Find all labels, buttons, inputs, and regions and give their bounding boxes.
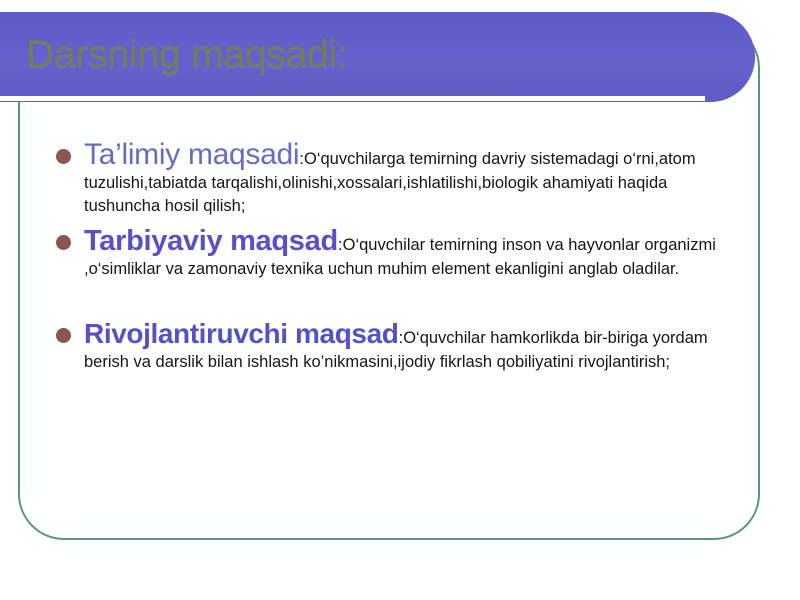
bullet-2-heading: Tarbiyaviy maqsad xyxy=(84,225,338,257)
bullet-item-1: Ta’limiy maqsadi:O‘quvchilarga temirning… xyxy=(48,138,738,218)
bullet-item-3: Rivojlantiruvchi maqsad:O‘quvchilar hamk… xyxy=(48,317,738,374)
disc-bullet-icon xyxy=(56,328,71,343)
bullet-3-heading: Rivojlantiruvchi maqsad xyxy=(84,318,398,349)
disc-bullet-icon xyxy=(56,149,71,164)
bullet-1-text: Ta’limiy maqsadi:O‘quvchilarga temirning… xyxy=(84,138,738,218)
bullet-3-text: Rivojlantiruvchi maqsad:O‘quvchilar hamk… xyxy=(84,317,738,374)
bullet-item-2: Tarbiyaviy maqsad:O‘quvchilar temirning … xyxy=(48,224,738,281)
page-title: Darsning maqsadi: xyxy=(26,32,348,78)
slide-title-banner: Darsning maqsadi: xyxy=(0,12,755,102)
bullet-1-heading: Ta’limiy maqsadi xyxy=(84,138,299,171)
title-underline-rule xyxy=(0,96,705,101)
presentation-slide: Darsning maqsadi: Ta’limiy maqsadi:O‘quv… xyxy=(0,0,800,600)
slide-body: Ta’limiy maqsadi:O‘quvchilarga temirning… xyxy=(48,138,738,378)
disc-bullet-icon xyxy=(56,235,71,250)
bullet-2-text: Tarbiyaviy maqsad:O‘quvchilar temirning … xyxy=(84,224,738,281)
